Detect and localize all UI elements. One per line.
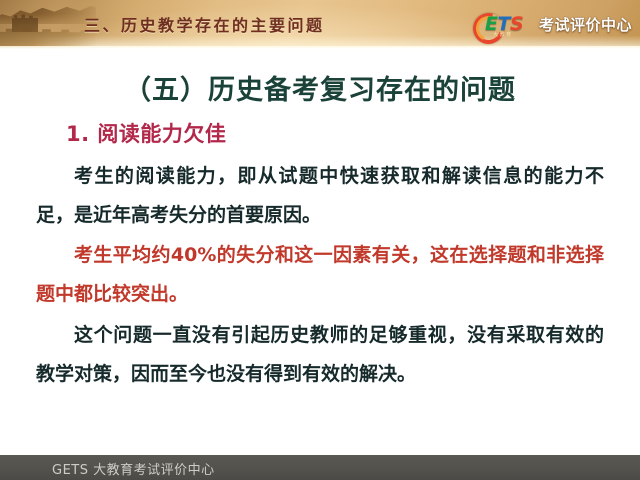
body-paragraph-2-highlighted: 考生平均约40%的失分和这一因素有关，这在选择题和非选择题中都比较突出。 <box>36 236 604 314</box>
footer-brand-text: GETS 大教育考试评价中心 <box>52 459 215 478</box>
slide-sub-heading: 1. 阅读能力欠佳 <box>66 118 226 148</box>
header-divider <box>0 46 640 49</box>
body-paragraph-3: 这个问题一直没有引起历史教师的足够重视，没有采取有效的教学对策，因而至今也没有得… <box>36 316 604 394</box>
logo-chinese-name: 考试评价中心 <box>539 14 632 35</box>
header-section-title: 三、历史教学存在的主要问题 <box>84 12 325 36</box>
slide-footer-bar: GETS 大教育考试评价中心 <box>0 455 640 480</box>
great-wall-photo <box>0 0 96 49</box>
presentation-slide: 三、历史教学存在的主要问题 ETS 大教育 考试评价中心 （五）历史备考复习存在… <box>0 0 640 480</box>
logo-subtext: 大教育 <box>493 31 513 38</box>
ets-logo-mark-icon: ETS 大教育 <box>473 12 535 38</box>
photo-fade-overlay <box>0 0 96 49</box>
body-paragraph-1: 考生的阅读能力，即从试题中快速获取和解读信息的能力不足，是近年高考失分的首要原因… <box>36 157 604 235</box>
slide-title: （五）历史备考复习存在的问题 <box>0 68 640 107</box>
ets-logo: ETS 大教育 考试评价中心 <box>473 11 632 38</box>
